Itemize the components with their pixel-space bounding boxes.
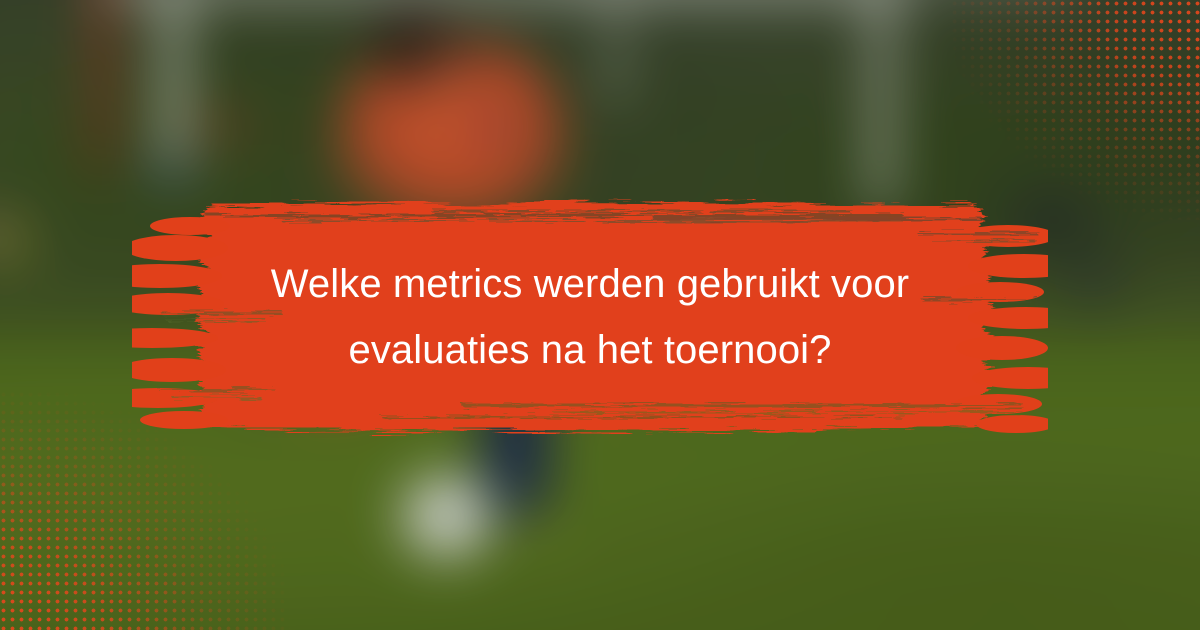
social-card: Welke metrics werden gebruikt voor evalu… — [0, 0, 1200, 630]
headline: Welke metrics werden gebruikt voor evalu… — [150, 200, 1030, 434]
headline-line-1: Welke metrics werden gebruikt voor — [271, 255, 909, 313]
headline-line-2: evaluaties na het toernooi? — [348, 321, 831, 379]
